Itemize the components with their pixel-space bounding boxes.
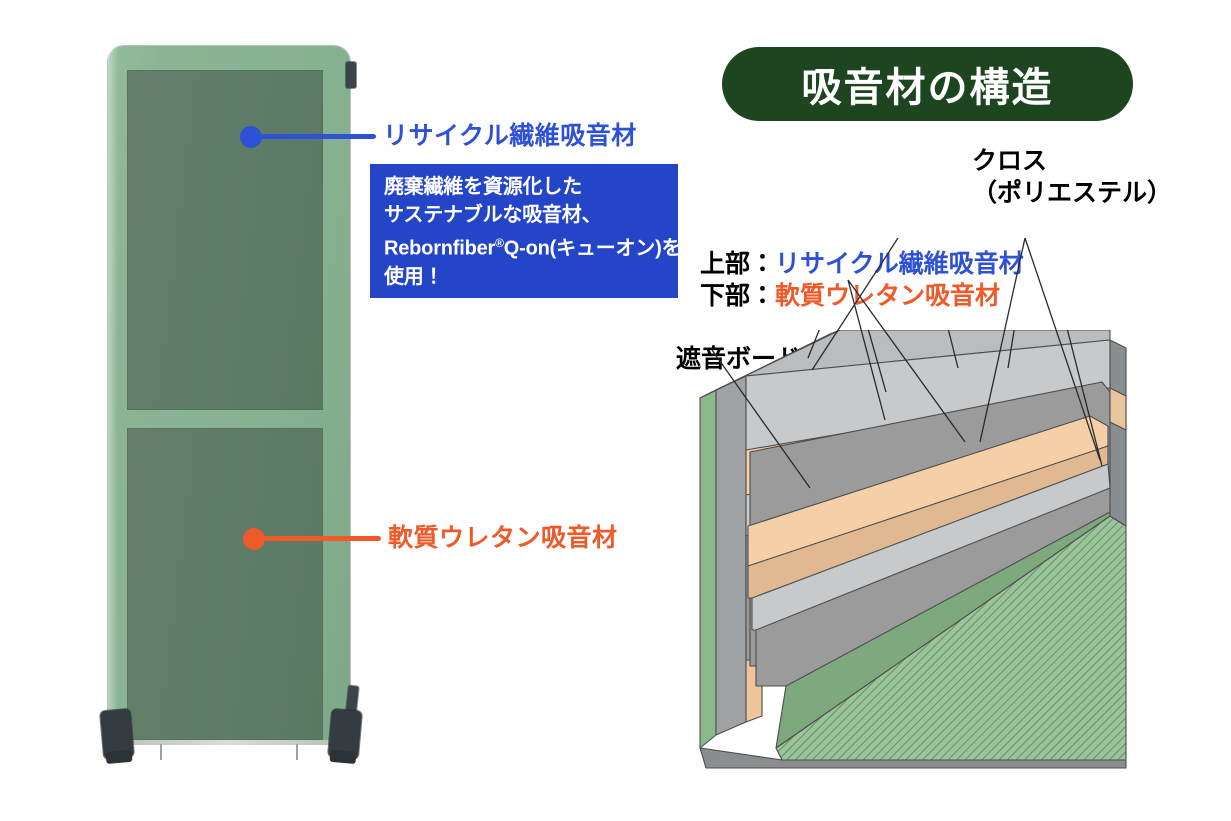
- caster-left: [100, 709, 134, 759]
- product-suffix: Q-on(キューオン)を: [504, 238, 682, 260]
- info-line-4: 使用！: [384, 263, 666, 291]
- recycled-fiber-info-box: 廃棄繊維を資源化した サステナブルな吸音材、 Rebornfiber®Q-on(…: [370, 164, 678, 298]
- poster-canvas: リサイクル繊維吸音材 軟質ウレタン吸音材 廃棄繊維を資源化した サステナブルな吸…: [0, 0, 1231, 821]
- lower-layer-legend: 下部：軟質ウレタン吸音材: [700, 280, 1024, 312]
- cutaway-right-face-urethane: [1110, 388, 1126, 430]
- recycled-fiber-leader-line: [258, 134, 376, 139]
- partition-frame: [108, 46, 350, 740]
- urethane-label: 軟質ウレタン吸音材: [388, 518, 618, 554]
- lower-prefix: 下部：: [700, 282, 775, 310]
- partition-foot-bar: [124, 740, 330, 745]
- hinge-top-right-icon: [346, 62, 356, 88]
- foot-leg-left: [160, 744, 162, 760]
- info-line-1: 廃棄繊維を資源化した: [384, 173, 666, 201]
- cloth-label: クロス （ポリエステル）: [972, 145, 1172, 209]
- acoustic-panel-cutaway-diagram: [690, 330, 1135, 770]
- cutaway-edge-cloth: [700, 390, 716, 748]
- cutaway-right-face-top: [1110, 340, 1126, 526]
- recycled-fiber-label: リサイクル繊維吸音材: [383, 116, 637, 152]
- cutaway-edge-board-back: [716, 376, 746, 735]
- upper-value: リサイクル繊維吸音材: [775, 250, 1024, 278]
- partition-upper-panel: [127, 70, 323, 410]
- cloth-label-line2: （ポリエステル）: [972, 177, 1172, 209]
- urethane-leader-line: [261, 536, 381, 541]
- upper-layer-legend: 上部：リサイクル繊維吸音材: [700, 248, 1024, 280]
- partition-lower-panel: [127, 428, 323, 740]
- movable-partition-photo: [108, 46, 350, 758]
- lower-value: 軟質ウレタン吸音材: [775, 282, 1000, 310]
- section-title-pill: 吸音材の構造: [722, 47, 1133, 121]
- product-name: Rebornfiber: [384, 238, 495, 260]
- section-title-text: 吸音材の構造: [802, 55, 1054, 113]
- foot-leg-right: [296, 744, 298, 760]
- upper-prefix: 上部：: [700, 250, 775, 278]
- registered-trademark-icon: ®: [495, 236, 504, 250]
- caster-right: [328, 709, 362, 759]
- cloth-label-line1: クロス: [972, 145, 1172, 177]
- layer-legend: 上部：リサイクル繊維吸音材 下部：軟質ウレタン吸音材: [700, 248, 1024, 312]
- info-line-product: Rebornfiber®Q-on(キューオン)を: [384, 229, 666, 263]
- info-line-2: サステナブルな吸音材、: [384, 201, 666, 229]
